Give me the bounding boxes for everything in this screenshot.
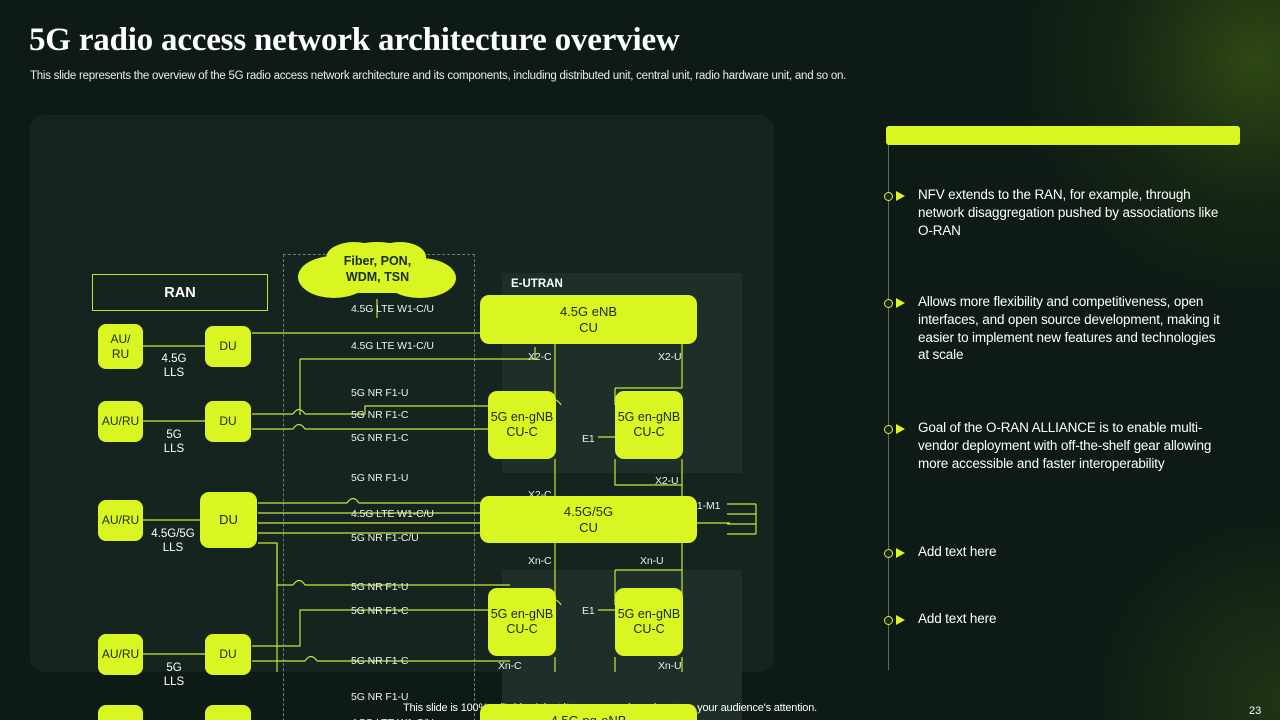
cu-box-45g-enb: 4.5G eNBCU <box>480 295 697 344</box>
cu-box-en-gnb-cu-c-1: 5G en-gNBCU-C <box>488 391 556 459</box>
du-box-5: DU <box>205 705 251 720</box>
du-box-1: DU <box>205 326 251 367</box>
sidebar-bullet-1[interactable]: NFV extends to the RAN, for example, thr… <box>884 186 1224 239</box>
sidebar-bullet-text: Add text here <box>910 543 996 561</box>
page-title: 5G radio access network architecture ove… <box>29 22 680 59</box>
sidebar-bullet-text: Goal of the O-RAN ALLIANCE is to enable … <box>910 419 1224 472</box>
interface-label-xnc-top: Xn-C <box>528 555 552 567</box>
au-ru-box-4: AU/RU <box>98 634 143 675</box>
lls-label-3: 4.5G/5GLLS <box>138 528 208 555</box>
cu-box-en-gnb-cu-c-3: 5G en-gNBCU-C <box>488 588 556 656</box>
transport-label-10: 5G NR F1-C <box>351 605 408 617</box>
ran-box: RAN <box>92 274 268 311</box>
bullet-marker-icon <box>884 419 910 422</box>
cu-box-en-gnb-cu-c-4: 5G en-gNBCU-C <box>615 588 683 656</box>
transport-label-4: 5G NR F1-C <box>351 409 408 421</box>
sidebar-bullet-text: NFV extends to the RAN, for example, thr… <box>910 186 1224 239</box>
transport-label-5: 5G NR F1-C <box>351 432 408 444</box>
sidebar-accent-bar <box>886 126 1240 145</box>
bullet-marker-icon <box>884 610 910 613</box>
transport-label-12: 5G NR F1-U <box>351 691 408 703</box>
transport-label-2: 4.5G LTE W1-C/U <box>351 340 434 352</box>
au-ru-box-2: AU/RU <box>98 401 143 442</box>
lls-label-2: 5GLLS <box>143 429 205 456</box>
du-box-2: DU <box>205 401 251 442</box>
interface-label-e1-bottom: E1 <box>582 605 595 617</box>
cu-box-en-gnb-cu-c-2: 5G en-gNBCU-C <box>615 391 683 459</box>
bullet-marker-icon <box>884 186 910 189</box>
du-box-3: DU <box>200 492 257 548</box>
du-box-4: DU <box>205 634 251 675</box>
cu-box-45g-5g-cu: 4.5G/5GCU <box>480 496 697 543</box>
au-ru-box-3: AU/RU <box>98 500 143 541</box>
interface-label-x2u-mid: X2-U <box>655 475 679 487</box>
interface-label-x2u-top: X2-U <box>658 351 682 363</box>
interface-label-xnu-bottom: Xn-U <box>658 660 682 672</box>
page-subtitle: This slide represents the overview of th… <box>30 70 846 82</box>
sidebar-bullet-5[interactable]: Add text here <box>884 610 1224 628</box>
transport-label-8: 5G NR F1-C/U <box>351 532 419 544</box>
interface-label-xnc-bottom: Xn-C <box>498 660 522 672</box>
interface-label-x2c-top: X2-C <box>528 351 552 363</box>
bullet-marker-icon <box>884 293 910 296</box>
diagram-panel: E-UTRAN NG-RAN <box>30 115 774 672</box>
sidebar-bullet-text: Allows more flexibility and competitiven… <box>910 293 1224 364</box>
transport-label-11: 5G NR F1-C <box>351 655 408 667</box>
transport-label-1: 4.5G LTE W1-C/U <box>351 303 434 315</box>
interface-label-xnu-top: Xn-U <box>640 555 664 567</box>
sidebar-bullet-3[interactable]: Goal of the O-RAN ALLIANCE is to enable … <box>884 419 1224 472</box>
lls-label-1: 4.5GLLS <box>143 353 205 380</box>
cu-box-45g-ng-enb: 4.5G ng-eNBCU <box>480 704 697 720</box>
transport-label-9: 5G NR F1-U <box>351 581 408 593</box>
au-ru-box-5: AU/RU <box>98 705 143 720</box>
transport-label-6: 5G NR F1-U <box>351 472 408 484</box>
bullet-marker-icon <box>884 543 910 546</box>
sidebar-bullet-2[interactable]: Allows more flexibility and competitiven… <box>884 293 1224 364</box>
slide-root: 5G radio access network architecture ove… <box>0 0 1280 720</box>
transport-label-3: 5G NR F1-U <box>351 387 408 399</box>
lls-label-4: 5GLLS <box>143 662 205 689</box>
transport-label-7: 4.5G LTE W1-C/U <box>351 508 434 520</box>
sidebar-bullet-text: Add text here <box>910 610 996 628</box>
transport-cloud: Fiber, PON, WDM, TSN <box>292 241 463 299</box>
sidebar-bullet-4[interactable]: Add text here <box>884 543 1224 561</box>
interface-label-e1-top: E1 <box>582 433 595 445</box>
au-ru-box-1: AU/RU <box>98 324 143 369</box>
page-number: 23 <box>1249 705 1261 717</box>
